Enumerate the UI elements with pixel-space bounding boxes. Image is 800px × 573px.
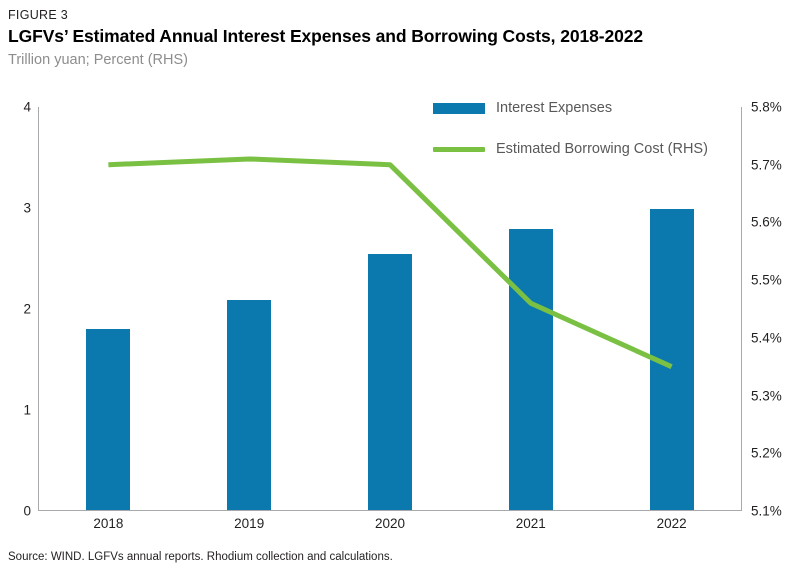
x-axis-tick: 2021: [516, 516, 546, 531]
source-note: Source: WIND. LGFVs annual reports. Rhod…: [8, 551, 393, 563]
y-axis-left-tick: 1: [3, 403, 39, 418]
legend-label-interest-expenses: Interest Expenses: [496, 100, 612, 116]
legend-label-borrowing-cost: Estimated Borrowing Cost (RHS): [496, 141, 708, 157]
y-axis-right-tick: 5.6%: [742, 215, 794, 230]
x-axis-tick: 2020: [375, 516, 405, 531]
y-axis-right-tick: 5.1%: [742, 504, 794, 519]
figure-label: FIGURE 3: [8, 8, 68, 22]
y-axis-right-tick: 5.4%: [742, 330, 794, 345]
legend-borrowing-cost: Estimated Borrowing Cost (RHS): [433, 141, 708, 157]
y-axis-left-tick: 0: [3, 504, 39, 519]
chart-subtitle: Trillion yuan; Percent (RHS): [8, 52, 188, 68]
borrowing-cost-line: [108, 159, 671, 367]
legend-interest-expenses: Interest Expenses: [433, 100, 612, 116]
y-axis-right-tick: 5.2%: [742, 446, 794, 461]
y-axis-left-tick: 2: [3, 302, 39, 317]
y-axis-left-tick: 3: [3, 201, 39, 216]
line-series: [38, 107, 742, 511]
x-axis-tick: 2022: [657, 516, 687, 531]
bar-swatch-icon: [433, 103, 485, 114]
chart-plot-area: 01234 5.1%5.2%5.3%5.4%5.5%5.6%5.7%5.8% 2…: [38, 107, 742, 511]
x-axis-tick: 2019: [234, 516, 264, 531]
y-axis-right-tick: 5.3%: [742, 388, 794, 403]
y-axis-right-tick: 5.8%: [742, 100, 794, 115]
line-swatch-icon: [433, 147, 485, 152]
page-title: LGFVs’ Estimated Annual Interest Expense…: [8, 26, 643, 47]
y-axis-left-tick: 4: [3, 100, 39, 115]
y-axis-right-tick: 5.7%: [742, 157, 794, 172]
y-axis-right-tick: 5.5%: [742, 273, 794, 288]
x-axis-tick: 2018: [93, 516, 123, 531]
